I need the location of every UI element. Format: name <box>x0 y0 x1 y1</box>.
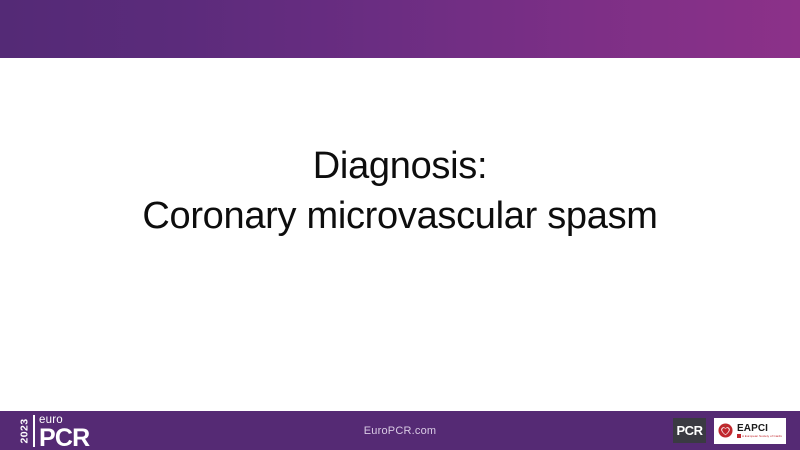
footer-bar: 2023 euro PCR EuroPCR.com PCR <box>0 411 800 450</box>
footer-url-text: EuroPCR.com <box>364 425 437 437</box>
eapci-subtitle: A European Society of Cardiology <box>742 434 782 439</box>
eapci-logo: EAPCI A European Society of Cardiology <box>714 418 786 444</box>
europcr-brand-logo: 2023 euro PCR <box>17 413 89 449</box>
logo-divider <box>33 415 35 447</box>
logo-year-label: 2023 <box>19 419 31 444</box>
logo-year: 2023 <box>17 413 32 449</box>
eapci-subtitle-row: A European Society of Cardiology <box>737 434 782 439</box>
slide-title: Diagnosis: Coronary microvascular spasm <box>50 141 750 241</box>
slide-title-line-2: Coronary microvascular spasm <box>50 191 750 241</box>
pcr-badge-logo: PCR <box>673 418 706 443</box>
slide-content-area: Diagnosis: Coronary microvascular spasm <box>0 58 800 411</box>
heart-icon <box>718 423 733 438</box>
logo-pcr-text: PCR <box>39 426 89 450</box>
eapci-text-block: EAPCI A European Society of Cardiology <box>737 423 782 439</box>
top-gradient-banner <box>0 0 800 58</box>
logo-wordmark: euro PCR <box>39 413 89 449</box>
esc-mark-icon <box>737 434 741 438</box>
eapci-name: EAPCI <box>737 423 782 434</box>
pcr-badge-label: PCR <box>677 423 703 438</box>
presentation-slide: Diagnosis: Coronary microvascular spasm … <box>0 0 800 450</box>
footer-logo-cluster: PCR EAPCI A European Society of Cardiolo… <box>673 417 786 444</box>
slide-title-line-1: Diagnosis: <box>50 141 750 191</box>
